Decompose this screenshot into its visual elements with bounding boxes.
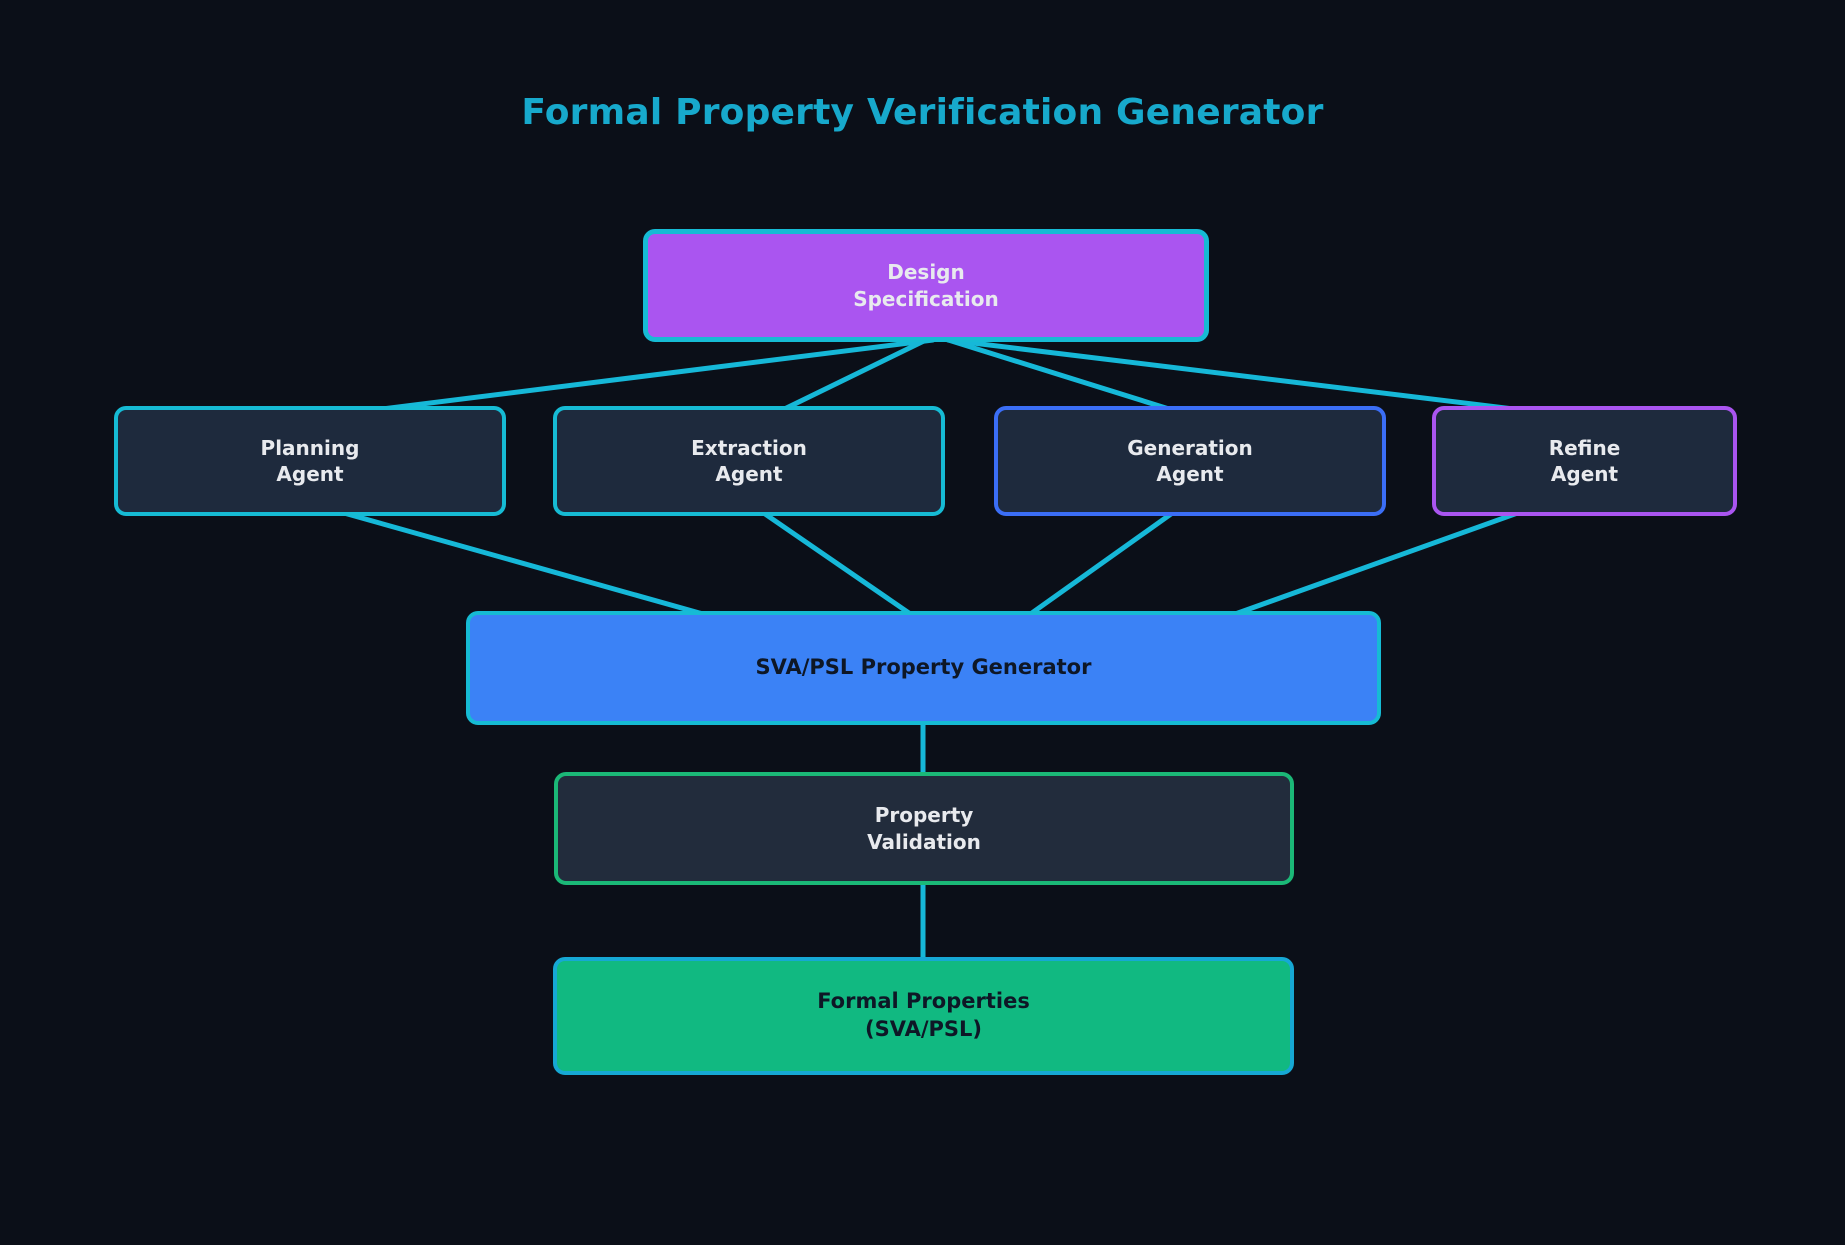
node-design-specification[interactable]: Design Specification xyxy=(643,229,1209,342)
node-refine-agent-label: Refine Agent xyxy=(1549,435,1621,488)
node-planning-agent[interactable]: Planning Agent xyxy=(114,406,506,516)
edge-extraction-gen xyxy=(752,505,925,624)
node-extraction-agent-label: Extraction Agent xyxy=(691,435,807,488)
edge-refine-gen xyxy=(1210,505,1540,623)
edge-spec-generation xyxy=(942,338,1185,414)
edge-spec-refine xyxy=(948,340,1530,411)
node-property-validation[interactable]: Property Validation xyxy=(554,772,1294,885)
node-formal-properties-label: Formal Properties (SVA/PSL) xyxy=(817,988,1030,1043)
edge-generation-gen xyxy=(1015,504,1185,625)
node-refine-agent[interactable]: Refine Agent xyxy=(1432,406,1737,516)
diagram-canvas: Formal Property Verification Generator D… xyxy=(0,0,1845,1245)
node-generation-agent-label: Generation Agent xyxy=(1127,435,1253,488)
node-design-specification-label: Design Specification xyxy=(853,259,999,312)
edge-planning-gen xyxy=(312,504,742,625)
node-property-generator-label: SVA/PSL Property Generator xyxy=(756,654,1092,682)
node-generation-agent[interactable]: Generation Agent xyxy=(994,406,1386,516)
node-planning-agent-label: Planning Agent xyxy=(261,435,360,488)
node-formal-properties[interactable]: Formal Properties (SVA/PSL) xyxy=(553,957,1294,1075)
page-title: Formal Property Verification Generator xyxy=(0,92,1845,133)
node-property-generator[interactable]: SVA/PSL Property Generator xyxy=(466,611,1381,725)
node-extraction-agent[interactable]: Extraction Agent xyxy=(553,406,945,516)
node-property-validation-label: Property Validation xyxy=(867,802,981,855)
